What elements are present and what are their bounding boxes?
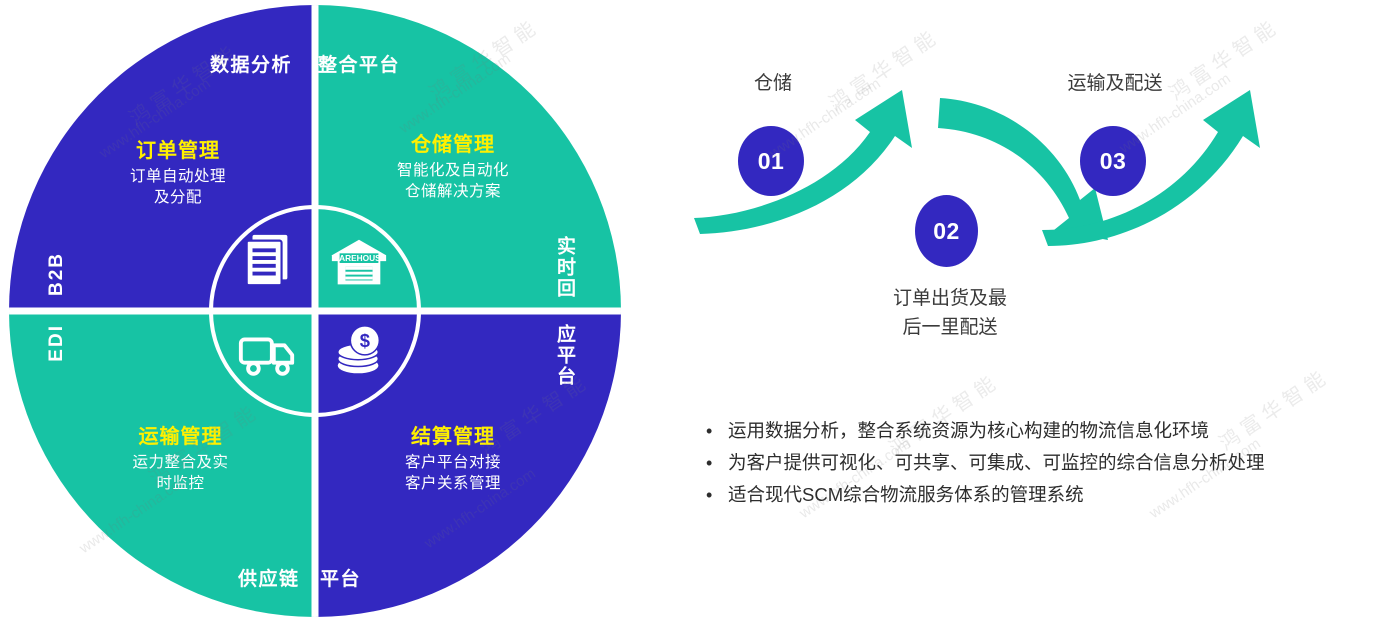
bullet-item: 适合现代SCM综合物流服务体系的管理系统: [700, 479, 1390, 511]
truck-icon: [236, 322, 298, 384]
bullet-item: 运用数据分析，整合系统资源为核心构建的物流信息化环境: [700, 415, 1390, 447]
rim-label-b2b: B2B: [46, 252, 68, 296]
rim-label-response-platform: 应平台: [551, 324, 578, 387]
documents-icon: [237, 229, 299, 291]
step-number: 03: [1100, 148, 1127, 175]
divider-horizontal: [8, 308, 622, 315]
coins-icon: $: [329, 320, 391, 382]
step-number: 01: [758, 148, 785, 175]
rim-label-realtime-response: 实时回: [551, 236, 578, 299]
rim-label-data-analysis: 数据分析: [210, 50, 292, 77]
step-label-line2: 后一里配送: [850, 314, 1050, 343]
rim-label-supply-chain: 供应链: [238, 564, 300, 591]
step-badge-02[interactable]: 02: [915, 195, 978, 267]
wheel-svg: [8, 4, 622, 618]
warehouse-icon: WAREHOUSE: [328, 232, 390, 294]
rim-label-integration-platform: 整合平台: [318, 50, 400, 77]
process-flow-diagram: 01 02 03 仓储 运输及配送 订单出货及最 后一里配送: [690, 40, 1390, 340]
step-badge-01[interactable]: 01: [738, 126, 804, 196]
feature-bullet-list: 运用数据分析，整合系统资源为核心构建的物流信息化环境 为客户提供可视化、可共享、…: [700, 415, 1390, 511]
step-label-warehousing: 仓储: [714, 70, 832, 99]
step-badge-03[interactable]: 03: [1080, 126, 1146, 196]
warehouse-icon-text: WAREHOUSE: [332, 253, 387, 263]
scm-wheel-diagram: 订单管理 订单自动处理 及分配 仓储管理 智能化及自动化 仓储解决方案 运输管理…: [8, 4, 622, 618]
rim-label-edi: EDI: [46, 324, 68, 362]
diagram-canvas: 订单管理 订单自动处理 及分配 仓储管理 智能化及自动化 仓储解决方案 运输管理…: [0, 0, 1400, 622]
step-label-line1: 订单出货及最: [850, 285, 1050, 314]
coin-dollar-symbol: $: [360, 330, 370, 351]
rim-label-platform: 平台: [320, 564, 361, 591]
step-label-order-shipment: 订单出货及最 后一里配送: [850, 285, 1050, 342]
step-label-transport-delivery: 运输及配送: [1030, 70, 1200, 99]
step-number: 02: [933, 218, 960, 245]
bullet-item: 为客户提供可视化、可共享、可集成、可监控的综合信息分析处理: [700, 447, 1390, 479]
